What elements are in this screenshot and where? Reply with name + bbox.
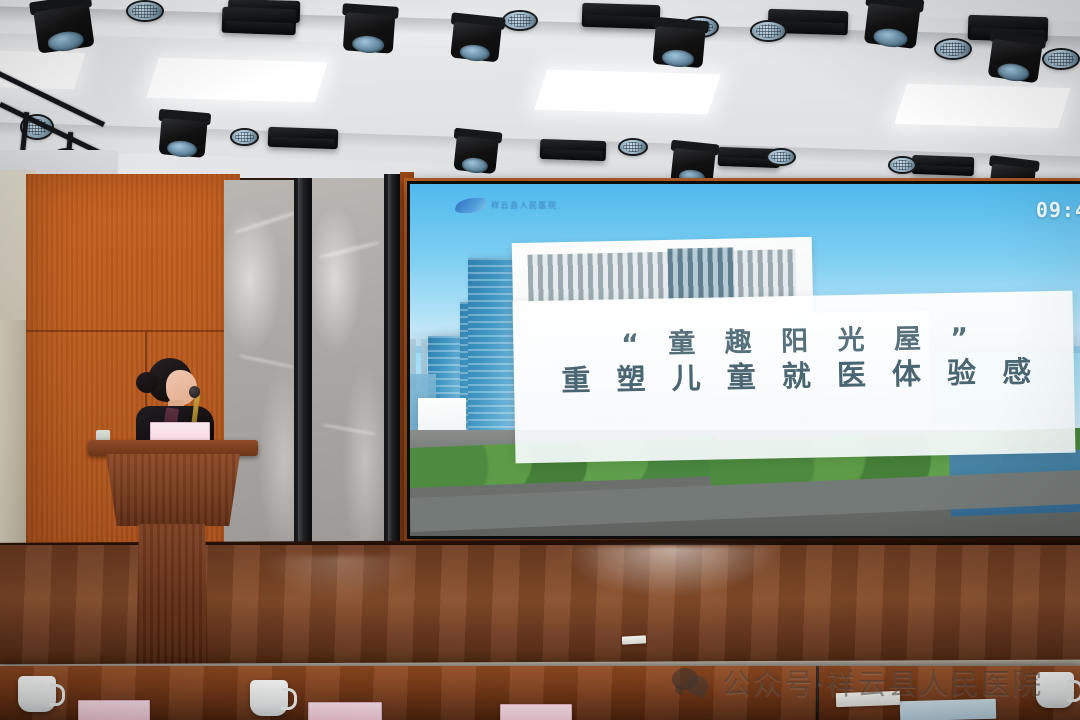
ceiling-downlight-icon [936,40,970,58]
stage-spotlight [864,3,920,49]
table-document [900,699,996,720]
ceiling-panel-light [894,84,1070,129]
table-cup [250,680,288,716]
podium [88,440,258,690]
hospital-swoosh-logo-icon [454,198,487,213]
paper-on-floor [622,635,646,644]
conference-hall-photo: 祥云县人民医院 09:4 “ 童 趣 阳 光 屋 ” 重 塑 儿 童 就 医 体… [0,0,1080,720]
stage-spotlight [450,22,502,63]
podium-stem [136,524,208,674]
ceiling-downlight-icon [128,2,162,20]
table-document [836,691,900,707]
slide-building-windows [528,249,797,303]
table-name-card [500,704,572,720]
ceiling-bar-light [582,3,661,29]
screen-clock: 09:4 [1036,198,1080,222]
ceiling-downlight-icon [752,22,785,40]
slide-title: “ 童 趣 阳 光 屋 ” 重 塑 儿 童 就 医 体 验 感 [529,321,1070,399]
podium-front-panel [106,454,240,526]
slide-building-windows [667,247,734,300]
table-cup [18,676,56,712]
table-cup [1036,672,1074,708]
wall-marble-column [312,178,388,582]
stage-spotlight [343,12,396,53]
ceiling-panel-light [146,58,327,103]
ceiling-downlight-icon [504,12,536,29]
slide-logo-text: 祥云县人民医院 [491,200,558,211]
ceiling-bar-light [222,7,297,36]
stage-spotlight [988,39,1043,84]
table-name-card [78,700,150,720]
floor-reflection [557,546,782,598]
speaker-hair-bun [136,372,158,393]
microphone-icon [189,386,200,398]
stage-spotlight [652,26,705,68]
stage-spotlight [33,4,94,53]
ceiling-downlight-icon [1044,50,1078,68]
table-microphone-pole [816,666,819,720]
slide-hospital-logo: 祥云县人民医院 [456,198,558,213]
wall-beige-strip [0,300,26,580]
wall-wood-seam [26,330,240,332]
led-screen: 祥云县人民医院 09:4 “ 童 趣 阳 光 屋 ” 重 塑 儿 童 就 医 体… [410,184,1080,536]
ceiling-panel-light [534,70,720,115]
ceiling-bar-light [268,127,339,149]
floor-reflection [260,556,420,602]
table-name-card [308,702,382,720]
ceiling-downlight-icon [232,130,257,144]
podium-top [88,440,258,456]
